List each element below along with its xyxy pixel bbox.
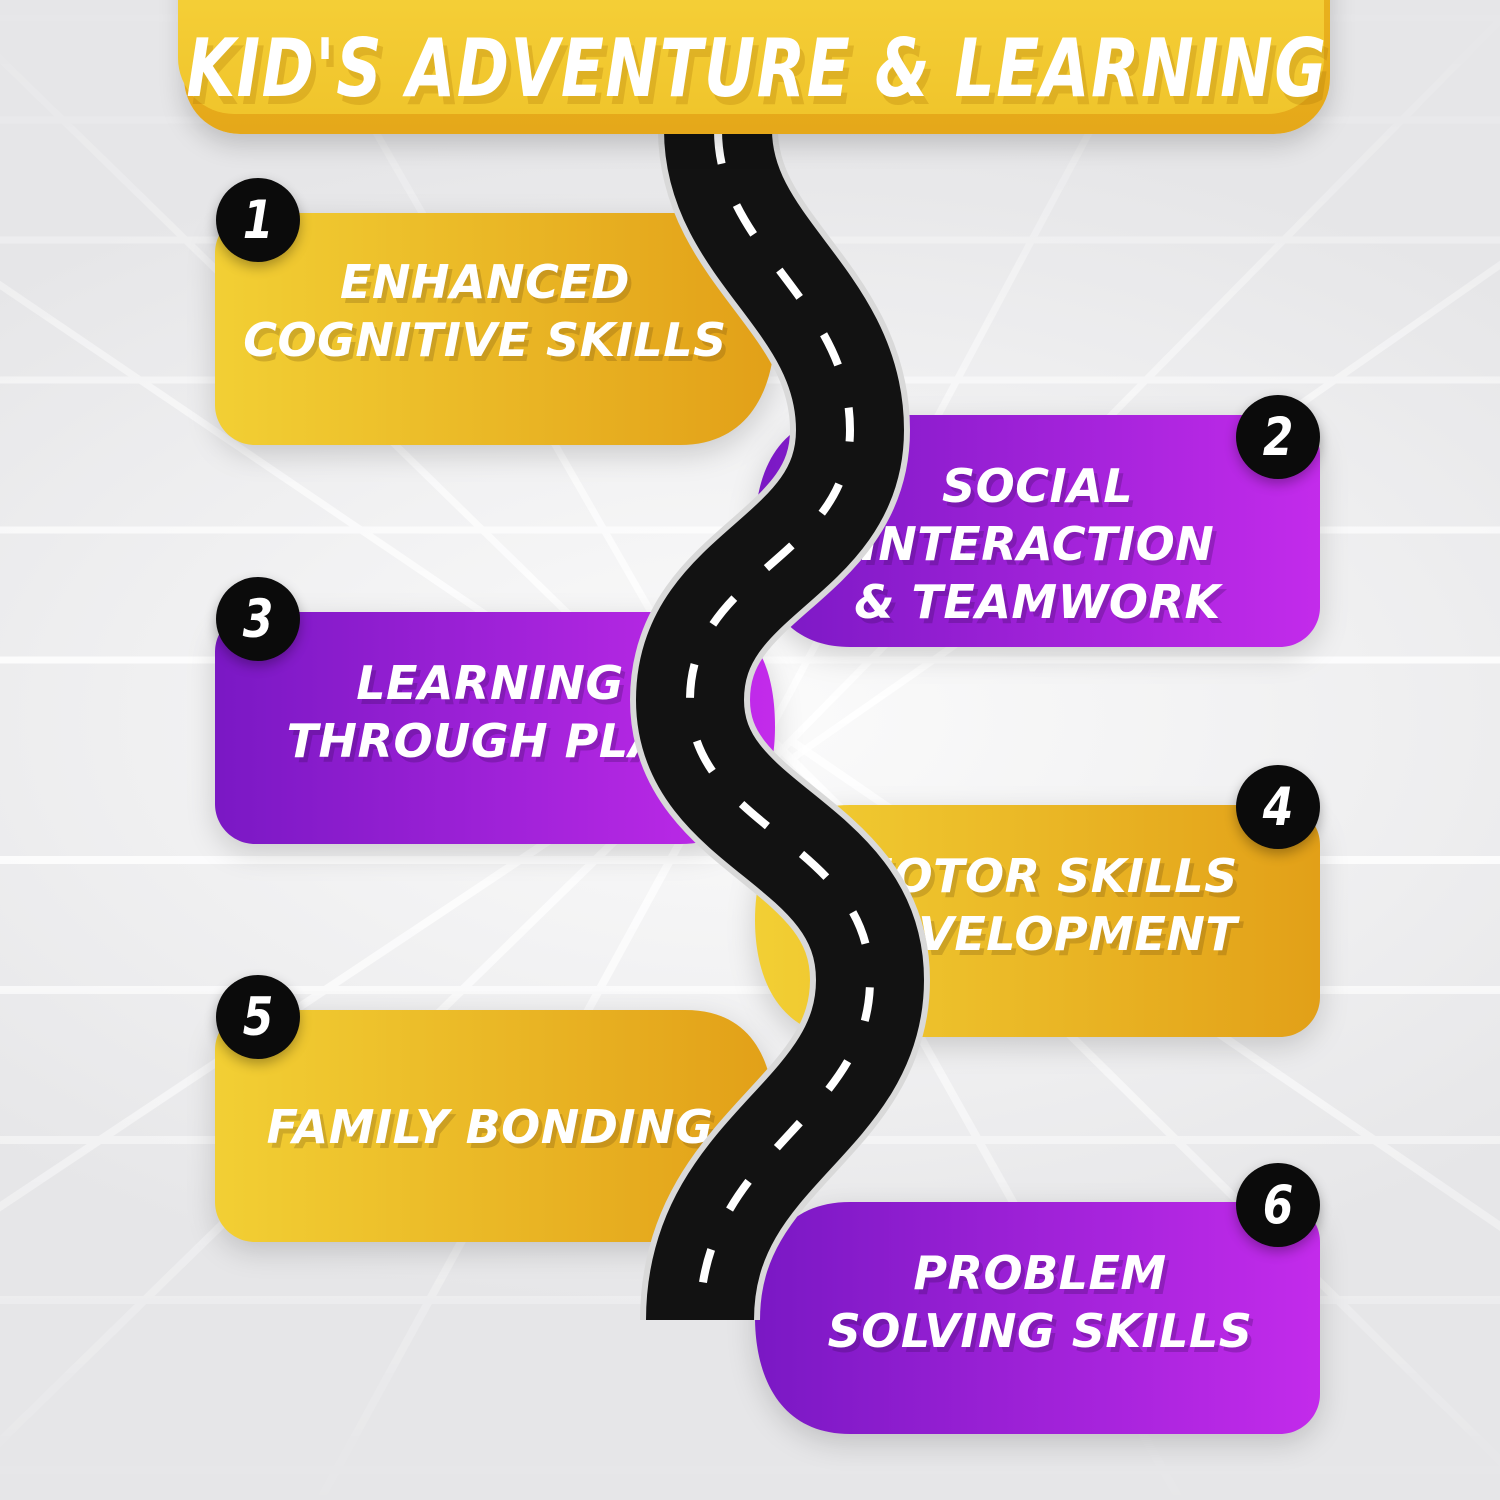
infographic-canvas: ENHANCED COGNITIVE SKILLS 1 SOCIAL INTER… — [0, 0, 1500, 1500]
page-title: KID'S ADVENTURE & LEARNING — [178, 22, 1336, 115]
title-banner: KID'S ADVENTURE & LEARNING — [178, 0, 1336, 136]
winding-road — [0, 0, 1500, 1500]
